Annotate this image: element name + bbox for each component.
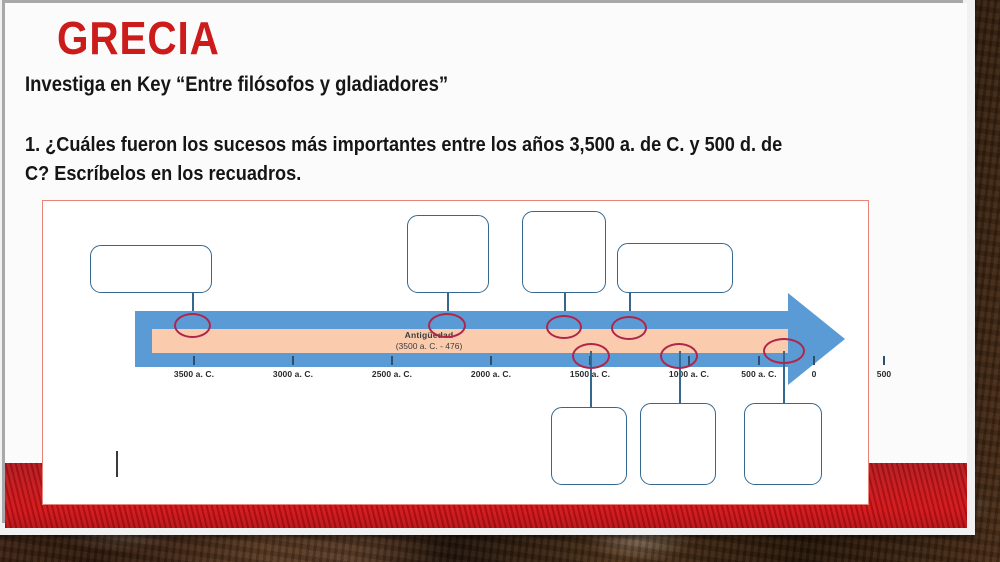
presentation-slide: GRECIA Investiga en Key “Entre filósofos… [5,3,967,528]
annotation-ellipse [174,313,211,338]
callout-box-top-2[interactable] [407,215,489,293]
axis-tick [813,356,815,365]
axis-tick [883,356,885,365]
annotation-ellipse [611,316,647,340]
callout-box-top-4[interactable] [617,243,733,293]
callout-box-bottom-2[interactable] [640,403,716,485]
callout-box-top-3[interactable] [522,211,606,293]
screenshot-stage: GRECIA Investiga en Key “Entre filósofos… [0,0,1000,562]
axis-tick-label: 3000 a. C. [258,369,328,379]
axis-tick-label: 3500 a. C. [159,369,229,379]
annotation-ellipse [546,315,582,339]
axis-tick [391,356,393,365]
axis-tick-label: 0 [779,369,849,379]
axis-tick [292,356,294,365]
callout-box-top-1[interactable] [90,245,212,293]
annotation-ellipse [428,313,466,338]
timeline-worksheet: Antigüedad (3500 a. C. - 476) 3500 a. C.… [42,200,869,505]
annotation-ellipse [572,343,610,369]
slide-inner-frame: GRECIA Investiga en Key “Entre filósofos… [2,0,963,523]
page-title: GRECIA [57,15,220,61]
axis-tick-label: 2000 a. C. [456,369,526,379]
callout-box-bottom-1[interactable] [551,407,627,485]
axis-tick [758,356,760,365]
axis-tick-label: 500 [849,369,919,379]
slide-outer-frame: GRECIA Investiga en Key “Entre filósofos… [0,0,975,535]
annotation-ellipse [660,343,698,369]
axis-tick [193,356,195,365]
question-text: 1. ¿Cuáles fueron los sucesos más import… [25,131,875,188]
axis-tick-label: 2500 a. C. [357,369,427,379]
annotation-ellipse [763,338,805,364]
axis-tick-label: 1000 a. C. [654,369,724,379]
slide-subtitle: Investiga en Key “Entre filósofos y glad… [25,73,448,97]
era-range-label: (3500 a. C. - 476) [349,341,509,351]
era-label: Antigüedad [349,330,509,340]
callout-box-bottom-3[interactable] [744,403,822,485]
axis-tick [490,356,492,365]
text-caret [116,451,118,477]
